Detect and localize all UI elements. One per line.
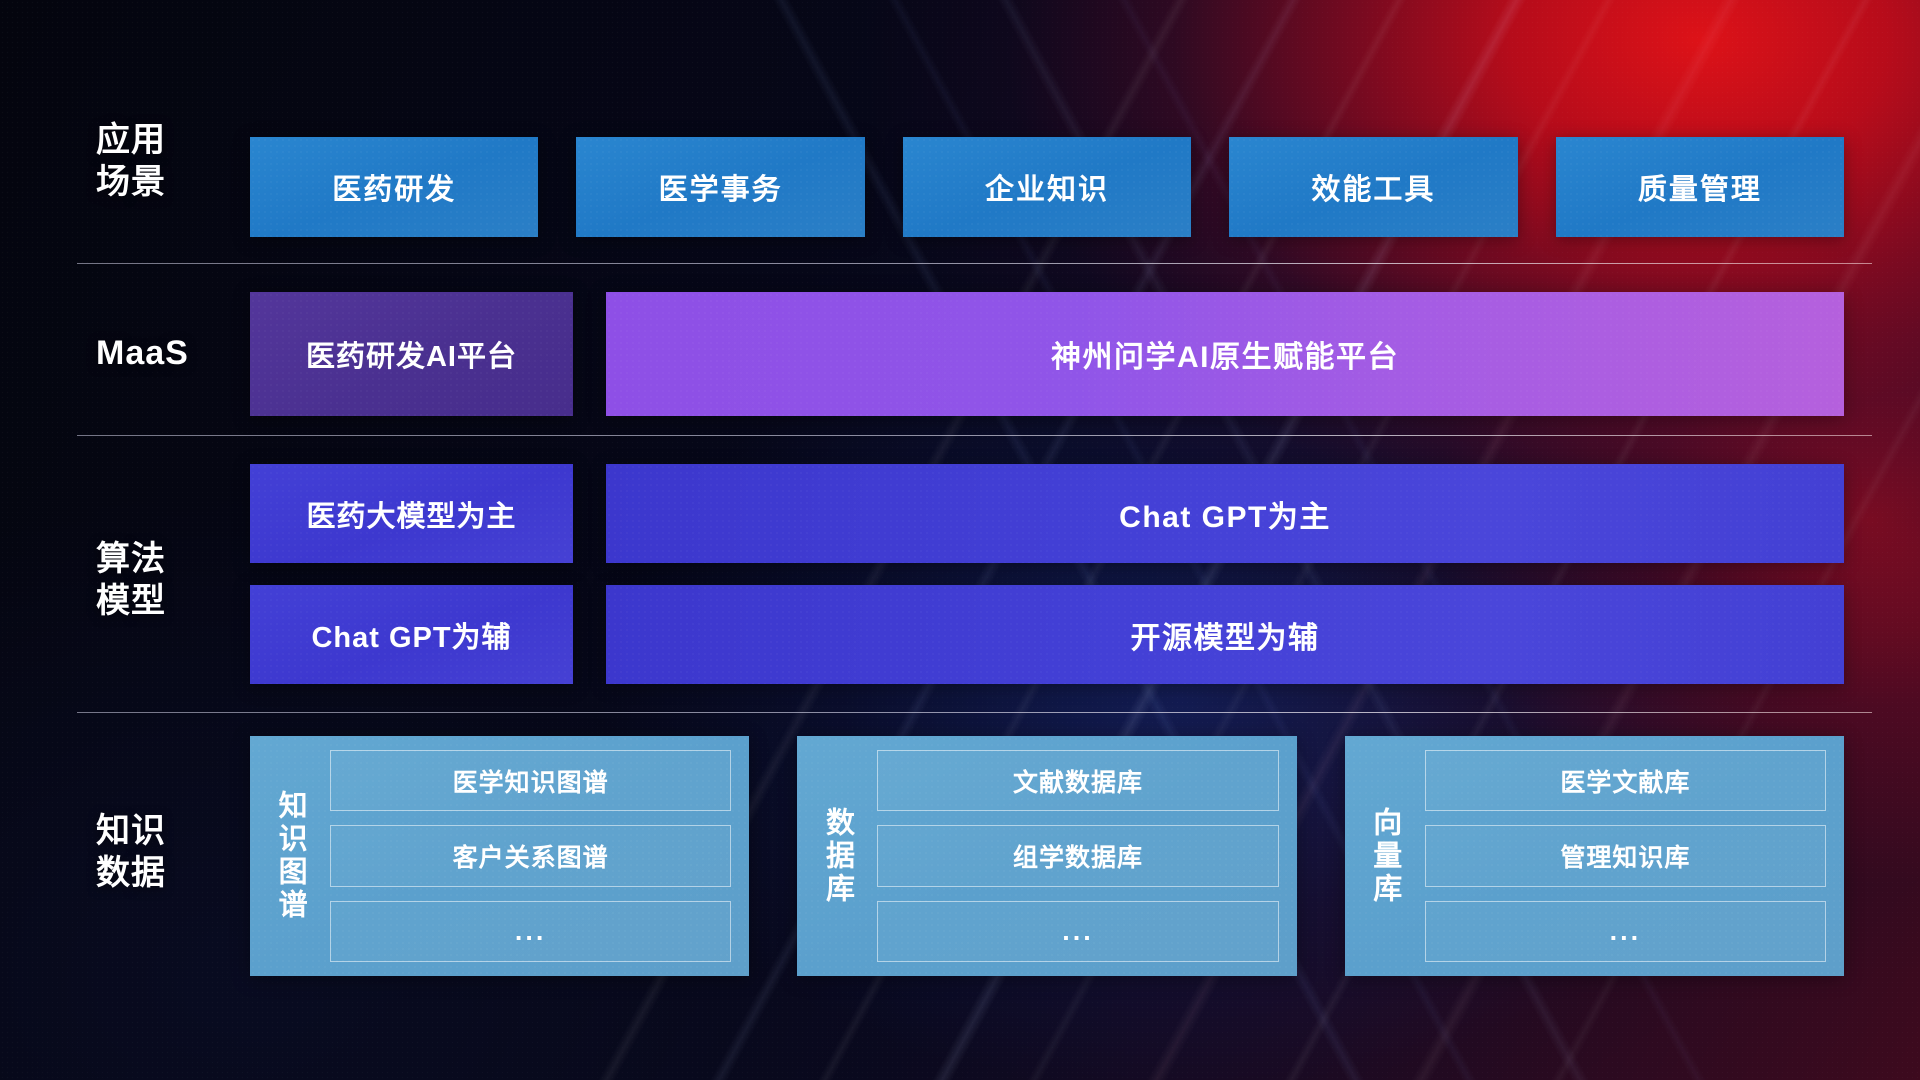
kd-item-omics-database[interactable]: 组学数据库 bbox=[877, 825, 1278, 886]
kd-item-management-knowledge-library[interactable]: 管理知识库 bbox=[1425, 825, 1826, 886]
knowledge-group-vector-database: 向量库 医学文献库 管理知识库 ... bbox=[1345, 736, 1844, 976]
kd-item-more-database[interactable]: ... bbox=[877, 901, 1278, 962]
knowledge-group-items-knowledge-graph: 医学知识图谱 客户关系图谱 ... bbox=[330, 750, 731, 962]
knowledge-group-label-vector-database: 向量库 bbox=[1359, 750, 1411, 962]
app-box-medical-affairs[interactable]: 医学事务 bbox=[576, 137, 864, 237]
knowledge-group-knowledge-graph: 知识图谱 医学知识图谱 客户关系图谱 ... bbox=[250, 736, 749, 976]
algorithm-line-secondary: Chat GPT为辅 开源模型为辅 bbox=[250, 585, 1844, 684]
row-separator-2 bbox=[77, 435, 1872, 436]
knowledge-data-row: 知识图谱 医学知识图谱 客户关系图谱 ... 数据库 文献数据库 组学数据库 .… bbox=[250, 736, 1844, 976]
kd-item-more-vector-database[interactable]: ... bbox=[1425, 901, 1826, 962]
algo-box-chatgpt-primary[interactable]: Chat GPT为主 bbox=[606, 464, 1844, 563]
app-box-medicine-rd[interactable]: 医药研发 bbox=[250, 137, 538, 237]
algo-box-opensource-model-secondary[interactable]: 开源模型为辅 bbox=[606, 585, 1844, 684]
row-separator-1 bbox=[77, 263, 1872, 264]
algo-box-pharma-large-model-primary[interactable]: 医药大模型为主 bbox=[250, 464, 573, 563]
application-scenarios-row: 医药研发 医学事务 企业知识 效能工具 质量管理 bbox=[250, 137, 1844, 237]
architecture-diagram: 应用场景 医药研发 医学事务 企业知识 效能工具 质量管理 MaaS 医药研发A… bbox=[0, 0, 1920, 1080]
knowledge-group-items-vector-database: 医学文献库 管理知识库 ... bbox=[1425, 750, 1826, 962]
app-box-enterprise-knowledge[interactable]: 企业知识 bbox=[903, 137, 1191, 237]
kd-item-medical-knowledge-graph[interactable]: 医学知识图谱 bbox=[330, 750, 731, 811]
knowledge-group-label-knowledge-graph: 知识图谱 bbox=[264, 750, 316, 962]
row-label-maas: MaaS bbox=[96, 333, 228, 375]
row-separator-3 bbox=[77, 712, 1872, 713]
maas-box-shenzhou-wenxue-platform[interactable]: 神州问学AI原生赋能平台 bbox=[606, 292, 1844, 416]
kd-item-more-knowledge-graph[interactable]: ... bbox=[330, 901, 731, 962]
app-box-quality-management[interactable]: 质量管理 bbox=[1556, 137, 1844, 237]
maas-box-pharma-ai-platform[interactable]: 医药研发AI平台 bbox=[250, 292, 573, 416]
algorithm-model-row: 医药大模型为主 Chat GPT为主 Chat GPT为辅 开源模型为辅 bbox=[250, 464, 1844, 684]
kd-item-customer-relation-graph[interactable]: 客户关系图谱 bbox=[330, 825, 731, 886]
maas-row: 医药研发AI平台 神州问学AI原生赋能平台 bbox=[250, 292, 1844, 416]
kd-item-literature-database[interactable]: 文献数据库 bbox=[877, 750, 1278, 811]
algo-box-chatgpt-secondary[interactable]: Chat GPT为辅 bbox=[250, 585, 573, 684]
knowledge-group-items-database: 文献数据库 组学数据库 ... bbox=[877, 750, 1278, 962]
knowledge-group-label-database: 数据库 bbox=[811, 750, 863, 962]
knowledge-group-database: 数据库 文献数据库 组学数据库 ... bbox=[797, 736, 1296, 976]
row-label-algorithm-model: 算法模型 bbox=[96, 539, 228, 623]
kd-item-medical-literature-library[interactable]: 医学文献库 bbox=[1425, 750, 1826, 811]
row-label-application-scenarios: 应用场景 bbox=[96, 120, 228, 204]
algorithm-line-primary: 医药大模型为主 Chat GPT为主 bbox=[250, 464, 1844, 563]
app-box-efficiency-tools[interactable]: 效能工具 bbox=[1229, 137, 1517, 237]
row-label-knowledge-data: 知识数据 bbox=[96, 811, 228, 895]
